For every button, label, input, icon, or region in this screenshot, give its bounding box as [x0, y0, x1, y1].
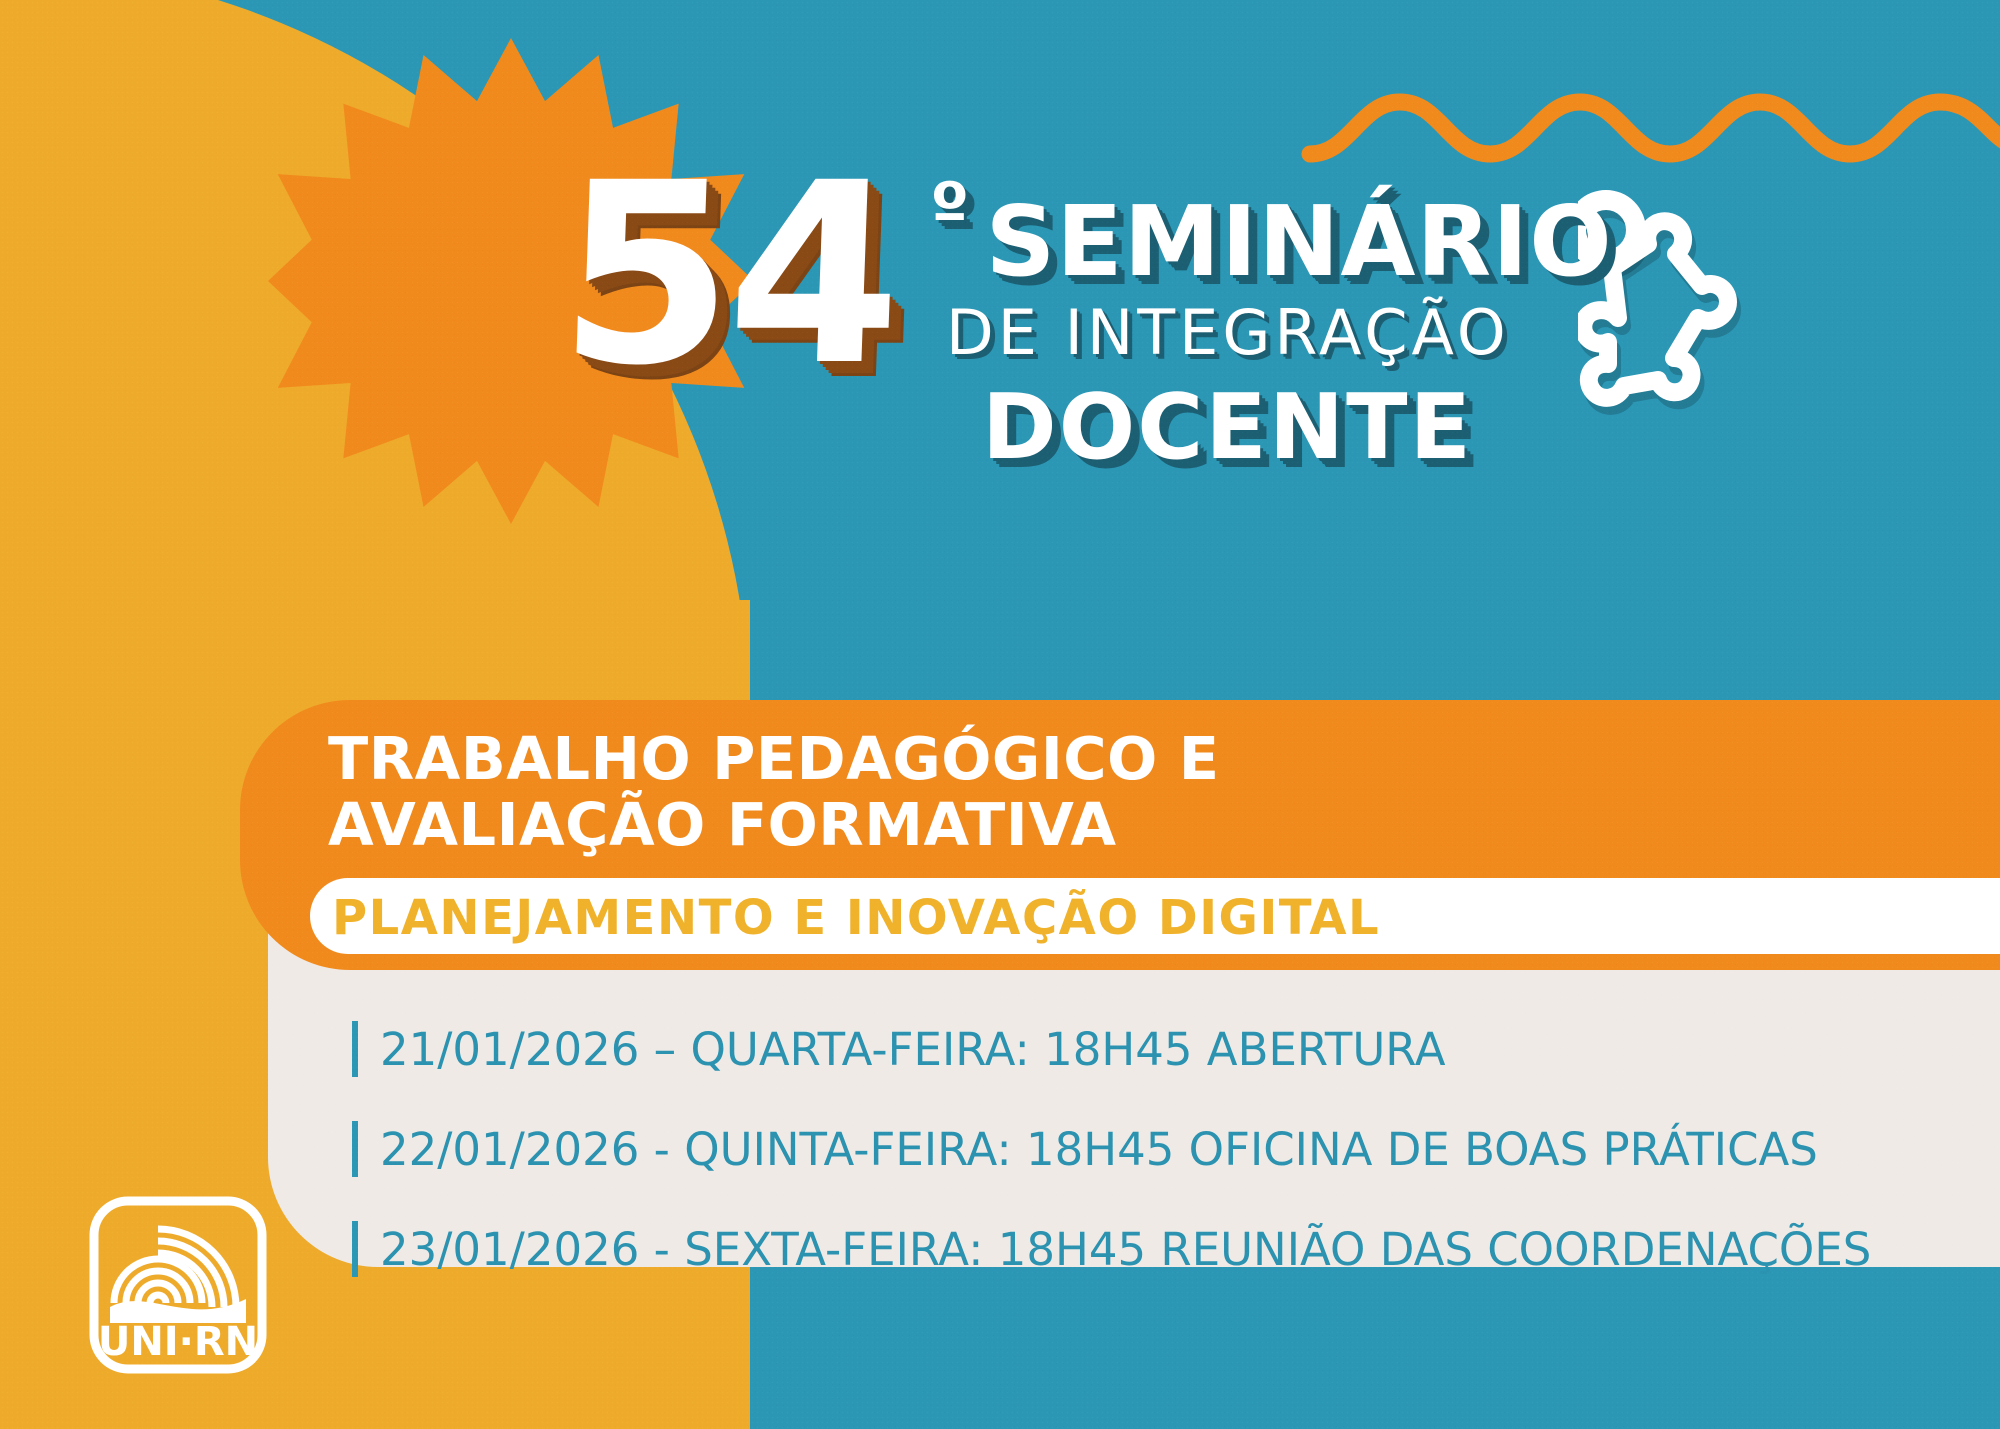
title-seminario: SEMINÁRIO: [985, 196, 1612, 288]
schedule-item: 21/01/2026 – QUARTA-FEIRA: 18H45 ABERTUR…: [352, 1010, 1972, 1088]
edition-number: 54: [556, 150, 901, 400]
puzzle-piece-icon: [1578, 170, 1878, 430]
wave-line-icon: [1300, 86, 2000, 166]
title-docente: DOCENTE: [982, 375, 1613, 480]
bullet-bar-icon: [352, 1121, 358, 1177]
schedule-list: 21/01/2026 – QUARTA-FEIRA: 18H45 ABERTUR…: [352, 1010, 1972, 1310]
schedule-item: 23/01/2026 - SEXTA-FEIRA: 18H45 REUNIÃO …: [352, 1210, 1972, 1288]
bullet-bar-icon: [352, 1021, 358, 1077]
schedule-item: 22/01/2026 - QUINTA-FEIRA: 18H45 OFICINA…: [352, 1110, 1972, 1188]
schedule-item-text: 22/01/2026 - QUINTA-FEIRA: 18H45 OFICINA…: [380, 1123, 1818, 1176]
unirn-logo: UNI·RN: [88, 1195, 268, 1375]
theme-title-line1: TRABALHO PEDAGÓGICO E: [328, 726, 1828, 792]
bullet-bar-icon: [352, 1221, 358, 1277]
title-de-integracao: DE INTEGRAÇÃO: [946, 296, 1613, 369]
theme-subtitle: PLANEJAMENTO E INOVAÇÃO DIGITAL: [332, 890, 1380, 946]
schedule-item-text: 21/01/2026 – QUARTA-FEIRA: 18H45 ABERTUR…: [380, 1023, 1446, 1076]
theme-title: TRABALHO PEDAGÓGICO E AVALIAÇÃO FORMATIV…: [328, 726, 1828, 858]
title-row-seminario: º SEMINÁRIO: [930, 196, 1613, 288]
theme-title-line2: AVALIAÇÃO FORMATIVA: [328, 792, 1828, 858]
schedule-item-text: 23/01/2026 - SEXTA-FEIRA: 18H45 REUNIÃO …: [380, 1223, 1871, 1276]
poster-canvas: 54 º SEMINÁRIO DE INTEGRAÇÃO DOCENTE TRA…: [0, 0, 2000, 1429]
event-title: º SEMINÁRIO DE INTEGRAÇÃO DOCENTE: [930, 196, 1613, 480]
unirn-logo-text: UNI·RN: [98, 1319, 258, 1365]
ordinal-marker: º: [930, 176, 969, 243]
